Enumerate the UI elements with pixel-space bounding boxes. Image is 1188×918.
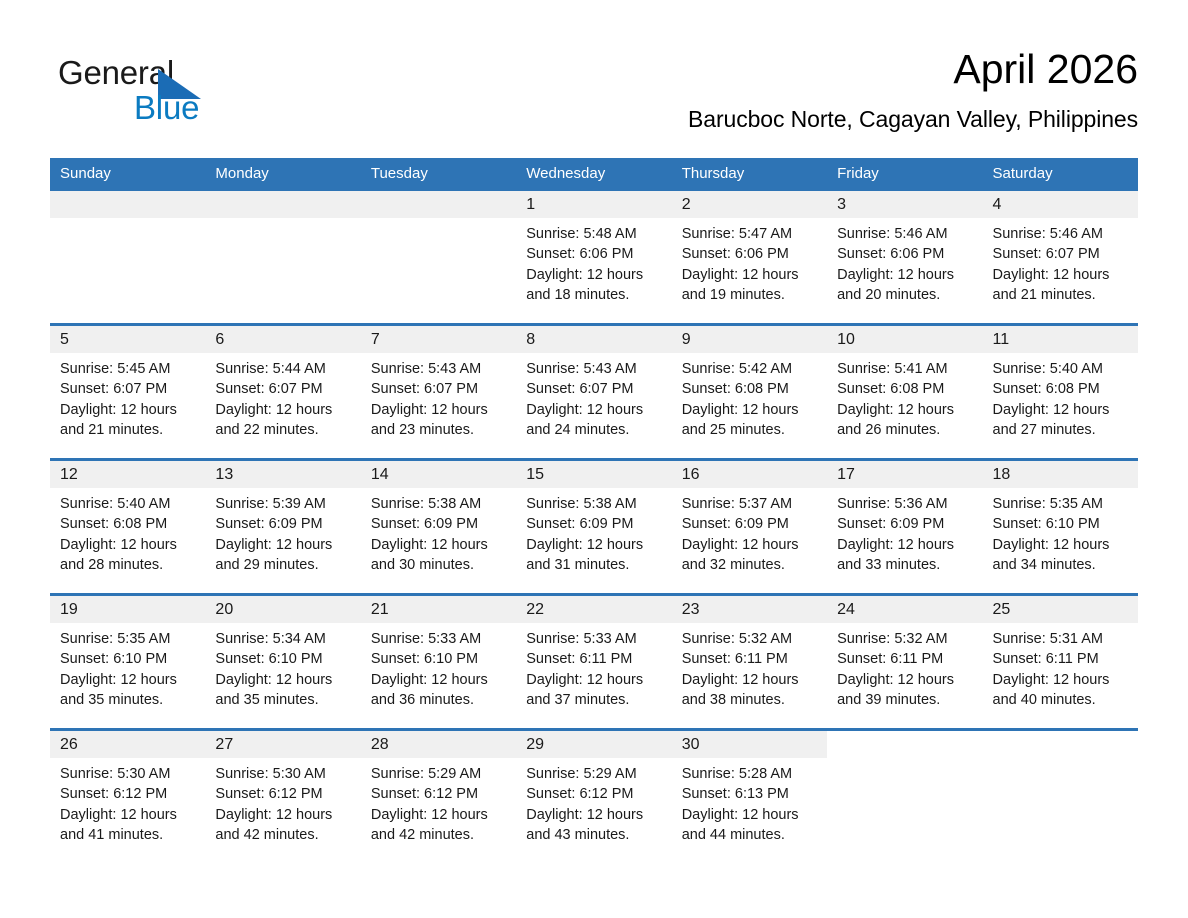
- sunrise-time: Sunrise: 5:40 AM: [60, 494, 195, 514]
- daylight-duration-line1: Daylight: 12 hours: [526, 535, 661, 555]
- sunrise-time: Sunrise: 5:30 AM: [60, 764, 195, 784]
- day-cell-inner: [827, 731, 982, 863]
- sunset-time: Sunset: 6:11 PM: [993, 649, 1128, 669]
- sunset-time: Sunset: 6:08 PM: [993, 379, 1128, 399]
- daylight-duration-line1: Daylight: 12 hours: [837, 265, 972, 285]
- daylight-duration-line1: Daylight: 12 hours: [371, 400, 506, 420]
- day-cell-inner: [361, 191, 516, 323]
- daylight-duration-line2: and 28 minutes.: [60, 555, 195, 575]
- day-cell-inner: 22Sunrise: 5:33 AMSunset: 6:11 PMDayligh…: [516, 596, 671, 728]
- daylight-duration-line1: Daylight: 12 hours: [526, 265, 661, 285]
- sunset-time: Sunset: 6:06 PM: [526, 244, 661, 264]
- day-cell-inner: 2Sunrise: 5:47 AMSunset: 6:06 PMDaylight…: [672, 191, 827, 323]
- calendar-day-cell[interactable]: 25Sunrise: 5:31 AMSunset: 6:11 PMDayligh…: [983, 595, 1138, 730]
- day-number: 26: [50, 731, 205, 758]
- weekday-header-saturday: Saturday: [983, 158, 1138, 191]
- daylight-duration-line2: and 29 minutes.: [215, 555, 350, 575]
- day-details: Sunrise: 5:33 AMSunset: 6:10 PMDaylight:…: [361, 623, 516, 710]
- daylight-duration-line2: and 38 minutes.: [682, 690, 817, 710]
- day-cell-inner: 25Sunrise: 5:31 AMSunset: 6:11 PMDayligh…: [983, 596, 1138, 728]
- sunrise-time: Sunrise: 5:30 AM: [215, 764, 350, 784]
- daylight-duration-line2: and 44 minutes.: [682, 825, 817, 845]
- calendar-day-cell[interactable]: 28Sunrise: 5:29 AMSunset: 6:12 PMDayligh…: [361, 730, 516, 864]
- calendar-day-cell[interactable]: 3Sunrise: 5:46 AMSunset: 6:06 PMDaylight…: [827, 191, 982, 325]
- daylight-duration-line2: and 37 minutes.: [526, 690, 661, 710]
- sunrise-time: Sunrise: 5:44 AM: [215, 359, 350, 379]
- daylight-duration-line1: Daylight: 12 hours: [682, 670, 817, 690]
- sunrise-time: Sunrise: 5:46 AM: [837, 224, 972, 244]
- calendar-day-cell[interactable]: 21Sunrise: 5:33 AMSunset: 6:10 PMDayligh…: [361, 595, 516, 730]
- calendar-week-row: 12Sunrise: 5:40 AMSunset: 6:08 PMDayligh…: [50, 460, 1138, 595]
- day-cell-inner: [50, 191, 205, 323]
- day-details: Sunrise: 5:47 AMSunset: 6:06 PMDaylight:…: [672, 218, 827, 305]
- sunset-time: Sunset: 6:07 PM: [526, 379, 661, 399]
- sunset-time: Sunset: 6:07 PM: [993, 244, 1128, 264]
- daylight-duration-line1: Daylight: 12 hours: [215, 805, 350, 825]
- calendar-day-cell[interactable]: 24Sunrise: 5:32 AMSunset: 6:11 PMDayligh…: [827, 595, 982, 730]
- sunset-time: Sunset: 6:11 PM: [526, 649, 661, 669]
- page-header: General Blue April 2026 Barucboc Norte, …: [50, 44, 1138, 144]
- daylight-duration-line1: Daylight: 12 hours: [60, 535, 195, 555]
- daylight-duration-line1: Daylight: 12 hours: [215, 670, 350, 690]
- day-number: 12: [50, 461, 205, 488]
- calendar-day-cell[interactable]: 30Sunrise: 5:28 AMSunset: 6:13 PMDayligh…: [672, 730, 827, 864]
- calendar-day-cell[interactable]: 26Sunrise: 5:30 AMSunset: 6:12 PMDayligh…: [50, 730, 205, 864]
- day-number: [827, 731, 982, 758]
- day-number: [205, 191, 360, 218]
- day-number: 20: [205, 596, 360, 623]
- daylight-duration-line2: and 42 minutes.: [215, 825, 350, 845]
- sunset-time: Sunset: 6:09 PM: [526, 514, 661, 534]
- calendar-day-cell[interactable]: 12Sunrise: 5:40 AMSunset: 6:08 PMDayligh…: [50, 460, 205, 595]
- daylight-duration-line2: and 30 minutes.: [371, 555, 506, 575]
- sunset-time: Sunset: 6:10 PM: [371, 649, 506, 669]
- day-details: Sunrise: 5:37 AMSunset: 6:09 PMDaylight:…: [672, 488, 827, 575]
- day-cell-inner: 6Sunrise: 5:44 AMSunset: 6:07 PMDaylight…: [205, 326, 360, 458]
- day-details: Sunrise: 5:48 AMSunset: 6:06 PMDaylight:…: [516, 218, 671, 305]
- day-cell-inner: 20Sunrise: 5:34 AMSunset: 6:10 PMDayligh…: [205, 596, 360, 728]
- logo-text-blue: Blue: [134, 89, 199, 127]
- title-block: April 2026 Barucboc Norte, Cagayan Valle…: [238, 44, 1138, 134]
- calendar-day-cell[interactable]: 2Sunrise: 5:47 AMSunset: 6:06 PMDaylight…: [672, 191, 827, 325]
- day-cell-inner: 9Sunrise: 5:42 AMSunset: 6:08 PMDaylight…: [672, 326, 827, 458]
- day-number: 13: [205, 461, 360, 488]
- day-cell-inner: [205, 191, 360, 323]
- day-number: 6: [205, 326, 360, 353]
- daylight-duration-line1: Daylight: 12 hours: [526, 805, 661, 825]
- day-number: 19: [50, 596, 205, 623]
- day-number: 25: [983, 596, 1138, 623]
- daylight-duration-line2: and 23 minutes.: [371, 420, 506, 440]
- sunrise-time: Sunrise: 5:42 AM: [682, 359, 817, 379]
- sunset-time: Sunset: 6:10 PM: [60, 649, 195, 669]
- day-details: Sunrise: 5:32 AMSunset: 6:11 PMDaylight:…: [827, 623, 982, 710]
- calendar-day-cell[interactable]: 29Sunrise: 5:29 AMSunset: 6:12 PMDayligh…: [516, 730, 671, 864]
- sunset-time: Sunset: 6:09 PM: [837, 514, 972, 534]
- day-number: [361, 191, 516, 218]
- day-details: Sunrise: 5:29 AMSunset: 6:12 PMDaylight:…: [361, 758, 516, 845]
- daylight-duration-line2: and 35 minutes.: [60, 690, 195, 710]
- daylight-duration-line1: Daylight: 12 hours: [371, 670, 506, 690]
- daylight-duration-line1: Daylight: 12 hours: [60, 805, 195, 825]
- day-cell-inner: 10Sunrise: 5:41 AMSunset: 6:08 PMDayligh…: [827, 326, 982, 458]
- sunrise-time: Sunrise: 5:45 AM: [60, 359, 195, 379]
- day-details: Sunrise: 5:45 AMSunset: 6:07 PMDaylight:…: [50, 353, 205, 440]
- sunrise-time: Sunrise: 5:48 AM: [526, 224, 661, 244]
- calendar-week-row: 19Sunrise: 5:35 AMSunset: 6:10 PMDayligh…: [50, 595, 1138, 730]
- logo-text-general: General: [58, 54, 174, 92]
- page-title: April 2026: [238, 44, 1138, 94]
- day-number: 21: [361, 596, 516, 623]
- calendar-day-cell-empty: [205, 191, 360, 325]
- day-number: 15: [516, 461, 671, 488]
- day-details: Sunrise: 5:34 AMSunset: 6:10 PMDaylight:…: [205, 623, 360, 710]
- day-cell-inner: 1Sunrise: 5:48 AMSunset: 6:06 PMDaylight…: [516, 191, 671, 323]
- calendar-day-cell-empty: [983, 730, 1138, 864]
- daylight-duration-line2: and 39 minutes.: [837, 690, 972, 710]
- daylight-duration-line2: and 24 minutes.: [526, 420, 661, 440]
- daylight-duration-line1: Daylight: 12 hours: [60, 670, 195, 690]
- sunset-time: Sunset: 6:13 PM: [682, 784, 817, 804]
- sunset-time: Sunset: 6:07 PM: [215, 379, 350, 399]
- day-cell-inner: 21Sunrise: 5:33 AMSunset: 6:10 PMDayligh…: [361, 596, 516, 728]
- sunset-time: Sunset: 6:12 PM: [371, 784, 506, 804]
- daylight-duration-line1: Daylight: 12 hours: [215, 535, 350, 555]
- day-cell-inner: 23Sunrise: 5:32 AMSunset: 6:11 PMDayligh…: [672, 596, 827, 728]
- day-number: [50, 191, 205, 218]
- day-cell-inner: 4Sunrise: 5:46 AMSunset: 6:07 PMDaylight…: [983, 191, 1138, 323]
- calendar-day-cell[interactable]: 11Sunrise: 5:40 AMSunset: 6:08 PMDayligh…: [983, 325, 1138, 460]
- sunrise-time: Sunrise: 5:43 AM: [526, 359, 661, 379]
- day-cell-inner: 11Sunrise: 5:40 AMSunset: 6:08 PMDayligh…: [983, 326, 1138, 458]
- day-details: Sunrise: 5:31 AMSunset: 6:11 PMDaylight:…: [983, 623, 1138, 710]
- day-number: 27: [205, 731, 360, 758]
- day-number: 9: [672, 326, 827, 353]
- sunrise-time: Sunrise: 5:38 AM: [526, 494, 661, 514]
- day-cell-inner: 3Sunrise: 5:46 AMSunset: 6:06 PMDaylight…: [827, 191, 982, 323]
- day-number: 24: [827, 596, 982, 623]
- day-cell-inner: 24Sunrise: 5:32 AMSunset: 6:11 PMDayligh…: [827, 596, 982, 728]
- weekday-header-thursday: Thursday: [672, 158, 827, 191]
- day-cell-inner: 26Sunrise: 5:30 AMSunset: 6:12 PMDayligh…: [50, 731, 205, 863]
- sunset-time: Sunset: 6:09 PM: [215, 514, 350, 534]
- sunset-time: Sunset: 6:12 PM: [526, 784, 661, 804]
- sunset-time: Sunset: 6:08 PM: [682, 379, 817, 399]
- daylight-duration-line2: and 36 minutes.: [371, 690, 506, 710]
- daylight-duration-line2: and 18 minutes.: [526, 285, 661, 305]
- day-number: 16: [672, 461, 827, 488]
- weekday-header-friday: Friday: [827, 158, 982, 191]
- daylight-duration-line2: and 21 minutes.: [993, 285, 1128, 305]
- calendar-day-cell[interactable]: 15Sunrise: 5:38 AMSunset: 6:09 PMDayligh…: [516, 460, 671, 595]
- day-details: Sunrise: 5:44 AMSunset: 6:07 PMDaylight:…: [205, 353, 360, 440]
- daylight-duration-line2: and 27 minutes.: [993, 420, 1128, 440]
- daylight-duration-line1: Daylight: 12 hours: [993, 265, 1128, 285]
- day-number: 8: [516, 326, 671, 353]
- daylight-duration-line1: Daylight: 12 hours: [682, 265, 817, 285]
- calendar-day-cell[interactable]: 19Sunrise: 5:35 AMSunset: 6:10 PMDayligh…: [50, 595, 205, 730]
- calendar-week-row: 1Sunrise: 5:48 AMSunset: 6:06 PMDaylight…: [50, 191, 1138, 325]
- sunset-time: Sunset: 6:07 PM: [371, 379, 506, 399]
- calendar-day-cell[interactable]: 8Sunrise: 5:43 AMSunset: 6:07 PMDaylight…: [516, 325, 671, 460]
- daylight-duration-line1: Daylight: 12 hours: [682, 805, 817, 825]
- calendar-day-cell[interactable]: 5Sunrise: 5:45 AMSunset: 6:07 PMDaylight…: [50, 325, 205, 460]
- calendar-day-cell[interactable]: 20Sunrise: 5:34 AMSunset: 6:10 PMDayligh…: [205, 595, 360, 730]
- sunset-time: Sunset: 6:06 PM: [682, 244, 817, 264]
- day-cell-inner: 7Sunrise: 5:43 AMSunset: 6:07 PMDaylight…: [361, 326, 516, 458]
- day-number: 2: [672, 191, 827, 218]
- day-cell-inner: 29Sunrise: 5:29 AMSunset: 6:12 PMDayligh…: [516, 731, 671, 863]
- calendar-day-cell[interactable]: 17Sunrise: 5:36 AMSunset: 6:09 PMDayligh…: [827, 460, 982, 595]
- daylight-duration-line2: and 26 minutes.: [837, 420, 972, 440]
- sunrise-time: Sunrise: 5:47 AM: [682, 224, 817, 244]
- day-cell-inner: 12Sunrise: 5:40 AMSunset: 6:08 PMDayligh…: [50, 461, 205, 593]
- day-number: 23: [672, 596, 827, 623]
- day-details: Sunrise: 5:35 AMSunset: 6:10 PMDaylight:…: [983, 488, 1138, 575]
- sunrise-time: Sunrise: 5:31 AM: [993, 629, 1128, 649]
- day-cell-inner: 28Sunrise: 5:29 AMSunset: 6:12 PMDayligh…: [361, 731, 516, 863]
- sunset-time: Sunset: 6:06 PM: [837, 244, 972, 264]
- calendar-body: 1Sunrise: 5:48 AMSunset: 6:06 PMDaylight…: [50, 191, 1138, 863]
- day-cell-inner: 8Sunrise: 5:43 AMSunset: 6:07 PMDaylight…: [516, 326, 671, 458]
- daylight-duration-line2: and 35 minutes.: [215, 690, 350, 710]
- day-details: Sunrise: 5:32 AMSunset: 6:11 PMDaylight:…: [672, 623, 827, 710]
- day-details: Sunrise: 5:30 AMSunset: 6:12 PMDaylight:…: [50, 758, 205, 845]
- day-details: Sunrise: 5:43 AMSunset: 6:07 PMDaylight:…: [361, 353, 516, 440]
- location-subtitle: Barucboc Norte, Cagayan Valley, Philippi…: [238, 94, 1138, 134]
- day-number: 7: [361, 326, 516, 353]
- day-number: 17: [827, 461, 982, 488]
- daylight-duration-line1: Daylight: 12 hours: [682, 400, 817, 420]
- calendar-day-cell-empty: [50, 191, 205, 325]
- daylight-duration-line1: Daylight: 12 hours: [993, 535, 1128, 555]
- day-number: 14: [361, 461, 516, 488]
- daylight-duration-line1: Daylight: 12 hours: [60, 400, 195, 420]
- sunrise-time: Sunrise: 5:39 AM: [215, 494, 350, 514]
- day-number: 11: [983, 326, 1138, 353]
- weekday-header-row: Sunday Monday Tuesday Wednesday Thursday…: [50, 158, 1138, 191]
- sunrise-time: Sunrise: 5:29 AM: [371, 764, 506, 784]
- calendar-day-cell[interactable]: 22Sunrise: 5:33 AMSunset: 6:11 PMDayligh…: [516, 595, 671, 730]
- day-details: Sunrise: 5:38 AMSunset: 6:09 PMDaylight:…: [361, 488, 516, 575]
- daylight-duration-line1: Daylight: 12 hours: [371, 535, 506, 555]
- calendar-day-cell-empty: [361, 191, 516, 325]
- sunrise-time: Sunrise: 5:40 AM: [993, 359, 1128, 379]
- day-cell-inner: 18Sunrise: 5:35 AMSunset: 6:10 PMDayligh…: [983, 461, 1138, 593]
- daylight-duration-line2: and 20 minutes.: [837, 285, 972, 305]
- sunset-time: Sunset: 6:12 PM: [215, 784, 350, 804]
- calendar-day-cell[interactable]: 18Sunrise: 5:35 AMSunset: 6:10 PMDayligh…: [983, 460, 1138, 595]
- calendar-day-cell-empty: [827, 730, 982, 864]
- sunrise-time: Sunrise: 5:35 AM: [993, 494, 1128, 514]
- day-cell-inner: 14Sunrise: 5:38 AMSunset: 6:09 PMDayligh…: [361, 461, 516, 593]
- daylight-duration-line2: and 31 minutes.: [526, 555, 661, 575]
- day-details: Sunrise: 5:42 AMSunset: 6:08 PMDaylight:…: [672, 353, 827, 440]
- day-details: Sunrise: 5:29 AMSunset: 6:12 PMDaylight:…: [516, 758, 671, 845]
- daylight-duration-line2: and 21 minutes.: [60, 420, 195, 440]
- weekday-header-sunday: Sunday: [50, 158, 205, 191]
- day-cell-inner: 5Sunrise: 5:45 AMSunset: 6:07 PMDaylight…: [50, 326, 205, 458]
- day-cell-inner: 30Sunrise: 5:28 AMSunset: 6:13 PMDayligh…: [672, 731, 827, 863]
- daylight-duration-line1: Daylight: 12 hours: [837, 670, 972, 690]
- sunrise-time: Sunrise: 5:35 AM: [60, 629, 195, 649]
- sunset-time: Sunset: 6:11 PM: [837, 649, 972, 669]
- sunrise-time: Sunrise: 5:29 AM: [526, 764, 661, 784]
- day-cell-inner: 15Sunrise: 5:38 AMSunset: 6:09 PMDayligh…: [516, 461, 671, 593]
- calendar-day-cell[interactable]: 27Sunrise: 5:30 AMSunset: 6:12 PMDayligh…: [205, 730, 360, 864]
- sunrise-time: Sunrise: 5:43 AM: [371, 359, 506, 379]
- sunset-time: Sunset: 6:11 PM: [682, 649, 817, 669]
- day-details: Sunrise: 5:40 AMSunset: 6:08 PMDaylight:…: [983, 353, 1138, 440]
- day-number: 5: [50, 326, 205, 353]
- daylight-duration-line1: Daylight: 12 hours: [682, 535, 817, 555]
- calendar-week-row: 26Sunrise: 5:30 AMSunset: 6:12 PMDayligh…: [50, 730, 1138, 864]
- calendar-page: General Blue April 2026 Barucboc Norte, …: [0, 0, 1188, 918]
- day-number: 28: [361, 731, 516, 758]
- day-cell-inner: 19Sunrise: 5:35 AMSunset: 6:10 PMDayligh…: [50, 596, 205, 728]
- sunset-time: Sunset: 6:09 PM: [371, 514, 506, 534]
- daylight-duration-line1: Daylight: 12 hours: [526, 400, 661, 420]
- daylight-duration-line1: Daylight: 12 hours: [993, 670, 1128, 690]
- day-details: Sunrise: 5:38 AMSunset: 6:09 PMDaylight:…: [516, 488, 671, 575]
- daylight-duration-line2: and 34 minutes.: [993, 555, 1128, 575]
- calendar-day-cell[interactable]: 6Sunrise: 5:44 AMSunset: 6:07 PMDaylight…: [205, 325, 360, 460]
- sunrise-time: Sunrise: 5:28 AM: [682, 764, 817, 784]
- day-number: 22: [516, 596, 671, 623]
- day-details: Sunrise: 5:46 AMSunset: 6:07 PMDaylight:…: [983, 218, 1138, 305]
- sunrise-time: Sunrise: 5:32 AM: [837, 629, 972, 649]
- day-details: Sunrise: 5:33 AMSunset: 6:11 PMDaylight:…: [516, 623, 671, 710]
- day-number: 30: [672, 731, 827, 758]
- daylight-duration-line1: Daylight: 12 hours: [371, 805, 506, 825]
- sunrise-time: Sunrise: 5:32 AM: [682, 629, 817, 649]
- sunset-time: Sunset: 6:08 PM: [837, 379, 972, 399]
- sunrise-time: Sunrise: 5:38 AM: [371, 494, 506, 514]
- sunrise-time: Sunrise: 5:34 AM: [215, 629, 350, 649]
- day-details: Sunrise: 5:43 AMSunset: 6:07 PMDaylight:…: [516, 353, 671, 440]
- daylight-duration-line1: Daylight: 12 hours: [526, 670, 661, 690]
- calendar-day-cell[interactable]: 23Sunrise: 5:32 AMSunset: 6:11 PMDayligh…: [672, 595, 827, 730]
- calendar-day-cell[interactable]: 4Sunrise: 5:46 AMSunset: 6:07 PMDaylight…: [983, 191, 1138, 325]
- weekday-header-wednesday: Wednesday: [516, 158, 671, 191]
- sunrise-time: Sunrise: 5:33 AM: [371, 629, 506, 649]
- day-details: Sunrise: 5:41 AMSunset: 6:08 PMDaylight:…: [827, 353, 982, 440]
- calendar-day-cell[interactable]: 9Sunrise: 5:42 AMSunset: 6:08 PMDaylight…: [672, 325, 827, 460]
- sunset-time: Sunset: 6:10 PM: [215, 649, 350, 669]
- day-details: Sunrise: 5:46 AMSunset: 6:06 PMDaylight:…: [827, 218, 982, 305]
- day-details: Sunrise: 5:40 AMSunset: 6:08 PMDaylight:…: [50, 488, 205, 575]
- daylight-duration-line2: and 25 minutes.: [682, 420, 817, 440]
- sunrise-time: Sunrise: 5:37 AM: [682, 494, 817, 514]
- calendar-day-cell[interactable]: 13Sunrise: 5:39 AMSunset: 6:09 PMDayligh…: [205, 460, 360, 595]
- calendar-day-cell[interactable]: 14Sunrise: 5:38 AMSunset: 6:09 PMDayligh…: [361, 460, 516, 595]
- weekday-header-monday: Monday: [205, 158, 360, 191]
- sunset-time: Sunset: 6:10 PM: [993, 514, 1128, 534]
- daylight-duration-line2: and 19 minutes.: [682, 285, 817, 305]
- day-number: 18: [983, 461, 1138, 488]
- day-details: Sunrise: 5:39 AMSunset: 6:09 PMDaylight:…: [205, 488, 360, 575]
- day-number: 10: [827, 326, 982, 353]
- daylight-duration-line2: and 33 minutes.: [837, 555, 972, 575]
- day-details: Sunrise: 5:30 AMSunset: 6:12 PMDaylight:…: [205, 758, 360, 845]
- daylight-duration-line2: and 22 minutes.: [215, 420, 350, 440]
- day-number: 1: [516, 191, 671, 218]
- calendar-day-cell[interactable]: 10Sunrise: 5:41 AMSunset: 6:08 PMDayligh…: [827, 325, 982, 460]
- daylight-duration-line1: Daylight: 12 hours: [837, 400, 972, 420]
- day-number: [983, 731, 1138, 758]
- calendar-day-cell[interactable]: 1Sunrise: 5:48 AMSunset: 6:06 PMDaylight…: [516, 191, 671, 325]
- sunrise-time: Sunrise: 5:41 AM: [837, 359, 972, 379]
- day-number: 29: [516, 731, 671, 758]
- calendar-week-row: 5Sunrise: 5:45 AMSunset: 6:07 PMDaylight…: [50, 325, 1138, 460]
- sunset-time: Sunset: 6:07 PM: [60, 379, 195, 399]
- day-cell-inner: 17Sunrise: 5:36 AMSunset: 6:09 PMDayligh…: [827, 461, 982, 593]
- daylight-duration-line2: and 42 minutes.: [371, 825, 506, 845]
- day-details: Sunrise: 5:35 AMSunset: 6:10 PMDaylight:…: [50, 623, 205, 710]
- sunrise-time: Sunrise: 5:36 AM: [837, 494, 972, 514]
- day-details: Sunrise: 5:36 AMSunset: 6:09 PMDaylight:…: [827, 488, 982, 575]
- day-details: Sunrise: 5:28 AMSunset: 6:13 PMDaylight:…: [672, 758, 827, 845]
- daylight-duration-line2: and 32 minutes.: [682, 555, 817, 575]
- day-cell-inner: 16Sunrise: 5:37 AMSunset: 6:09 PMDayligh…: [672, 461, 827, 593]
- daylight-duration-line2: and 40 minutes.: [993, 690, 1128, 710]
- sunrise-time: Sunrise: 5:46 AM: [993, 224, 1128, 244]
- sunset-time: Sunset: 6:12 PM: [60, 784, 195, 804]
- calendar-table: Sunday Monday Tuesday Wednesday Thursday…: [50, 158, 1138, 863]
- daylight-duration-line1: Daylight: 12 hours: [837, 535, 972, 555]
- sunset-time: Sunset: 6:09 PM: [682, 514, 817, 534]
- sunrise-time: Sunrise: 5:33 AM: [526, 629, 661, 649]
- weekday-header-tuesday: Tuesday: [361, 158, 516, 191]
- day-cell-inner: 13Sunrise: 5:39 AMSunset: 6:09 PMDayligh…: [205, 461, 360, 593]
- daylight-duration-line2: and 43 minutes.: [526, 825, 661, 845]
- calendar-day-cell[interactable]: 7Sunrise: 5:43 AMSunset: 6:07 PMDaylight…: [361, 325, 516, 460]
- calendar-day-cell[interactable]: 16Sunrise: 5:37 AMSunset: 6:09 PMDayligh…: [672, 460, 827, 595]
- daylight-duration-line1: Daylight: 12 hours: [993, 400, 1128, 420]
- daylight-duration-line2: and 41 minutes.: [60, 825, 195, 845]
- day-cell-inner: [983, 731, 1138, 863]
- day-number: 4: [983, 191, 1138, 218]
- daylight-duration-line1: Daylight: 12 hours: [215, 400, 350, 420]
- sunset-time: Sunset: 6:08 PM: [60, 514, 195, 534]
- day-cell-inner: 27Sunrise: 5:30 AMSunset: 6:12 PMDayligh…: [205, 731, 360, 863]
- day-number: 3: [827, 191, 982, 218]
